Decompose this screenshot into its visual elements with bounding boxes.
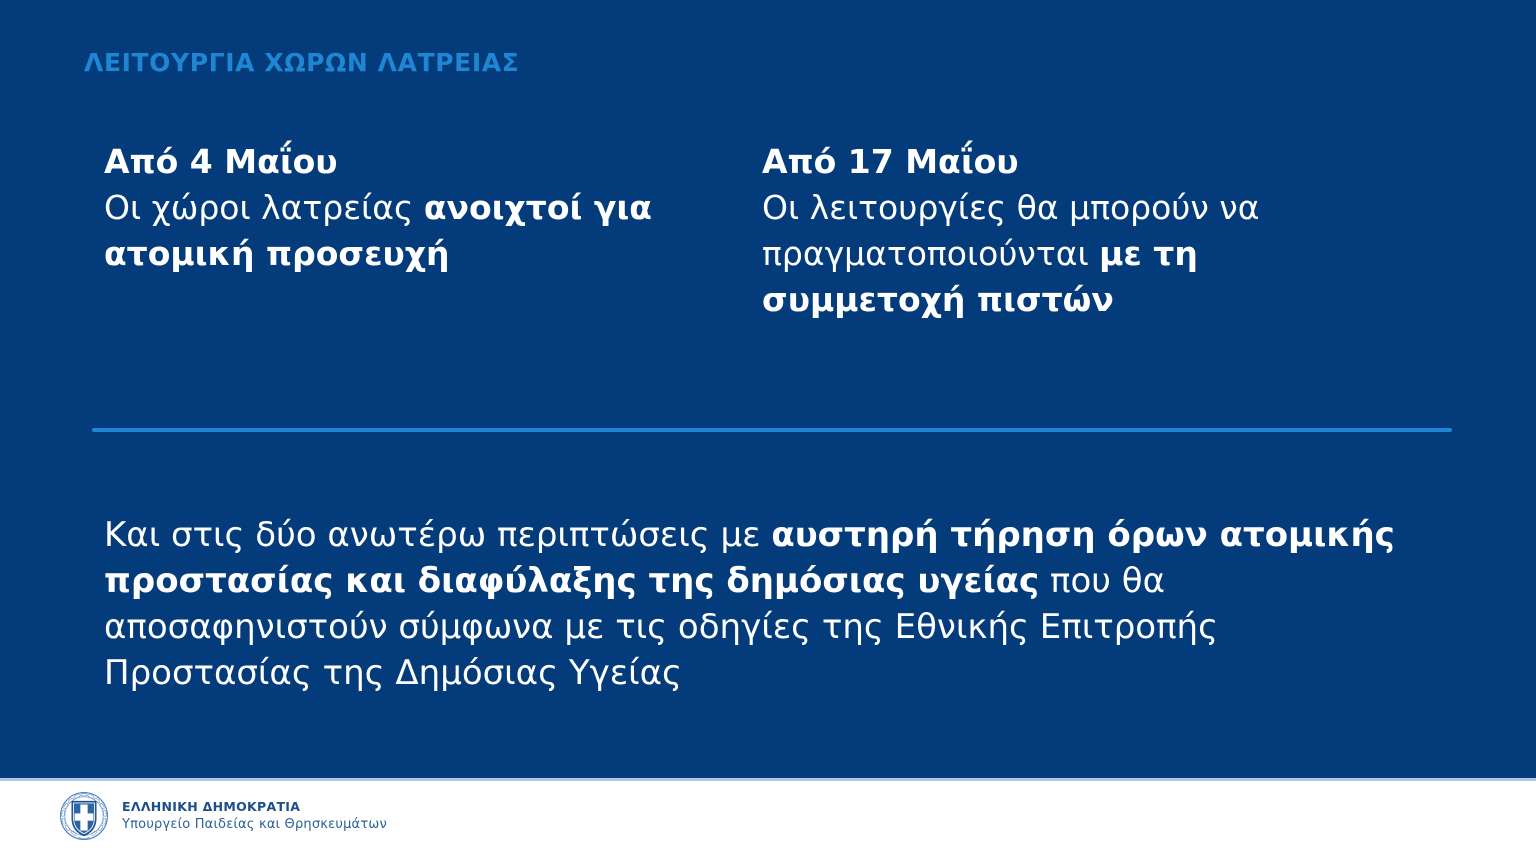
horizontal-divider xyxy=(92,428,1452,432)
column-from-may-4: Από 4 Μαΐου Οι χώροι λατρείας ανοιχτοί γ… xyxy=(104,139,704,277)
paragraph-part-1: Και στις δύο ανωτέρω περιπτώσεις με xyxy=(104,515,771,555)
footer-ministry: Υπουργείο Παιδείας και Θρησκευμάτων xyxy=(122,816,387,834)
greek-coat-of-arms-icon xyxy=(58,790,110,842)
footer-text-group: ΕΛΛΗΝΙΚΗ ΔΗΜΟΚΡΑΤΙΑ Υπουργείο Παιδείας κ… xyxy=(122,799,387,833)
footer-organization: ΕΛΛΗΝΙΚΗ ΔΗΜΟΚΡΑΤΙΑ xyxy=(122,799,387,816)
column-heading: Από 17 Μαΐου xyxy=(762,139,1362,185)
page-title: ΛΕΙΤΟΥΡΓΙΑ ΧΩΡΩΝ ΛΑΤΡΕΙΑΣ xyxy=(84,48,519,77)
column-heading: Από 4 Μαΐου xyxy=(104,139,704,185)
columns-container: Από 4 Μαΐου Οι χώροι λατρείας ανοιχτοί γ… xyxy=(104,139,1454,323)
column-body: Οι χώροι λατρείας ανοιχτοί για ατομική π… xyxy=(104,185,704,277)
note-paragraph: Και στις δύο ανωτέρω περιπτώσεις με αυστ… xyxy=(104,512,1422,696)
footer-bar: ΕΛΛΗΝΙΚΗ ΔΗΜΟΚΡΑΤΙΑ Υπουργείο Παιδείας κ… xyxy=(0,778,1536,864)
column-body-plain-1: Οι χώροι λατρείας xyxy=(104,188,424,227)
column-body: Οι λειτουργίες θα μπορούν να πραγματοποι… xyxy=(762,185,1362,323)
footer-logo-group: ΕΛΛΗΝΙΚΗ ΔΗΜΟΚΡΑΤΙΑ Υπουργείο Παιδείας κ… xyxy=(58,790,387,842)
column-from-may-17: Από 17 Μαΐου Οι λειτουργίες θα μπορούν ν… xyxy=(762,139,1362,323)
presentation-slide: ΛΕΙΤΟΥΡΓΙΑ ΧΩΡΩΝ ΛΑΤΡΕΙΑΣ Από 4 Μαΐου Οι… xyxy=(0,0,1536,864)
